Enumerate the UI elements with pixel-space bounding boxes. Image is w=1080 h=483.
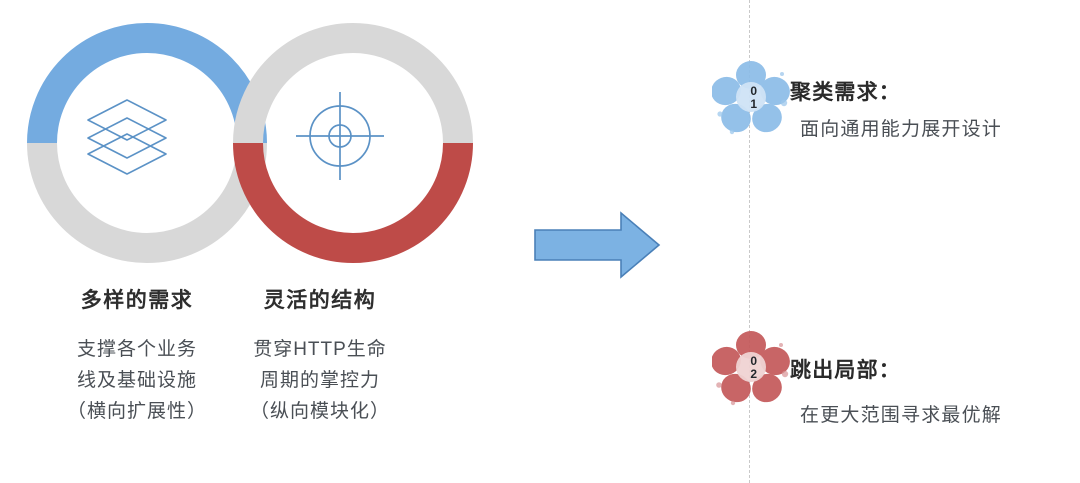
caption-body: 支撑各个业务 线及基础设施 （横向扩展性） <box>42 334 232 427</box>
caption-line: （纵向模块化） <box>225 396 415 427</box>
badge-digit-bottom: 2 <box>750 368 757 381</box>
caption-line: 周期的掌控力 <box>225 365 415 396</box>
badge-digit-bottom: 1 <box>750 98 757 111</box>
caption-title: 灵活的结构 <box>225 286 415 316</box>
item-heading: 跳出局部： <box>790 354 901 384</box>
item-body: 在更大范围寻求最优解 <box>800 400 1002 427</box>
badge-number: 0 1 <box>715 59 793 137</box>
caption-column-flexible-structure: 灵活的结构 贯穿HTTP生命 周期的掌控力 （纵向模块化） <box>225 286 415 427</box>
flower-badge-02: 0 2 <box>712 328 790 406</box>
caption-line: 支撑各个业务 <box>42 334 232 365</box>
item-body: 面向通用能力展开设计 <box>800 114 1002 141</box>
caption-title: 多样的需求 <box>42 286 232 316</box>
caption-line: 线及基础设施 <box>42 365 232 396</box>
caption-column-diverse-demand: 多样的需求 支撑各个业务 线及基础设施 （横向扩展性） <box>42 286 232 427</box>
target-crosshair-icon <box>292 88 388 184</box>
item-heading: 聚类需求： <box>790 76 901 106</box>
right-arrow-icon <box>533 211 661 279</box>
badge-number: 0 2 <box>715 329 793 407</box>
caption-line: 贯穿HTTP生命 <box>225 334 415 365</box>
caption-body: 贯穿HTTP生命 周期的掌控力 （纵向模块化） <box>225 334 415 427</box>
slide-canvas: 多样的需求 支撑各个业务 线及基础设施 （横向扩展性） 灵活的结构 贯穿HTTP… <box>0 0 1080 483</box>
caption-line: （横向扩展性） <box>42 396 232 427</box>
flower-badge-01: 0 1 <box>712 58 790 136</box>
layers-icon <box>84 96 170 176</box>
